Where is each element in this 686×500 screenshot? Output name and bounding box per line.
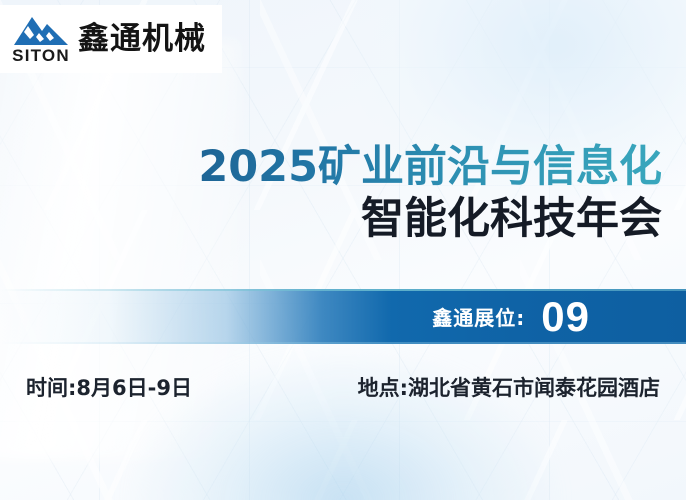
page-title: 2025矿业前沿与信息化 智能化科技年会 [0, 143, 662, 245]
event-location: 地点:湖北省黄石市闻泰花园酒店 [358, 372, 660, 402]
event-details: 时间:8月6日-9日 地点:湖北省黄石市闻泰花园酒店 [26, 372, 660, 402]
event-time: 时间:8月6日-9日 [26, 372, 192, 402]
title-line-primary: 2025矿业前沿与信息化 [0, 143, 662, 191]
booth-label: 鑫通展位: [432, 302, 525, 331]
brand-logo: SITON 鑫通机械 [0, 5, 222, 73]
siton-mountain-icon: SITON [10, 14, 72, 64]
title-line-secondary: 智能化科技年会 [0, 195, 662, 245]
booth-number: 09 [541, 296, 590, 338]
booth-banner: 鑫通展位: 09 [0, 289, 686, 344]
logo-latin-name: SITON [12, 47, 70, 64]
logo-chinese-name: 鑫通机械 [78, 24, 206, 55]
event-poster: SITON 鑫通机械 2025矿业前沿与信息化 智能化科技年会 鑫通展位: 09… [0, 0, 686, 500]
